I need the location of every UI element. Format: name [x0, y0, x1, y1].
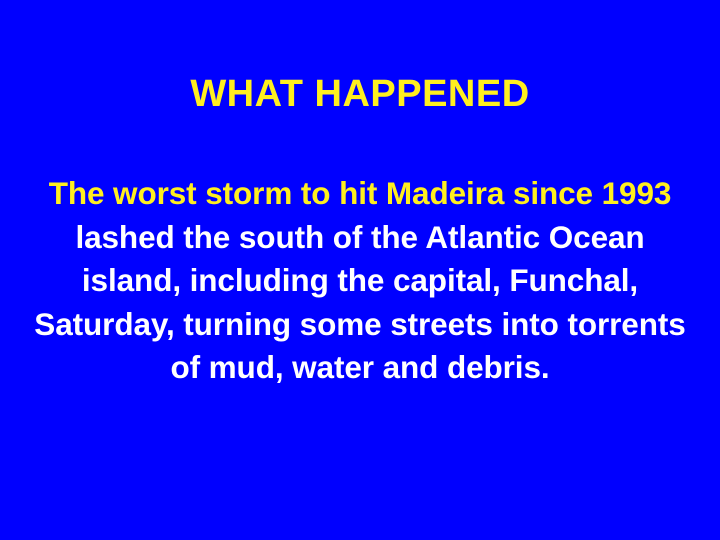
slide-body-text: The worst storm to hit Madeira since 199… — [30, 172, 690, 390]
slide-title: WHAT HAPPENED — [0, 72, 720, 116]
presentation-slide: WHAT HAPPENED The worst storm to hit Mad… — [0, 0, 720, 540]
body-remaining-text: lashed the south of the Atlantic Ocean i… — [34, 219, 685, 386]
body-highlighted-phrase: The worst storm to hit Madeira since 199… — [49, 175, 672, 211]
